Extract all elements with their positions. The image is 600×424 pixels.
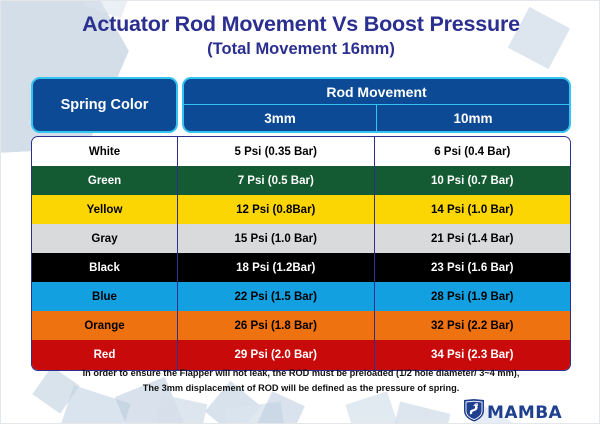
cell-pressure-3mm: 18 Psi (1.2Bar) (177, 253, 374, 282)
cell-spring-color: Orange (32, 311, 177, 340)
table-row: White5 Psi (0.35 Bar)6 Psi (0.4 Bar) (32, 137, 570, 166)
cell-pressure-10mm: 6 Psi (0.4 Bar) (374, 137, 571, 166)
note-line-1: In order to ensure the Flapper will not … (1, 366, 600, 381)
square-decoration-bottom (153, 395, 208, 424)
table-row: Yellow12 Psi (0.8Bar)14 Psi (1.0 Bar) (32, 195, 570, 224)
cell-pressure-3mm: 22 Psi (1.5 Bar) (177, 282, 374, 311)
logo-text: MAMBA (487, 403, 562, 423)
cell-pressure-10mm: 32 Psi (2.2 Bar) (374, 311, 571, 340)
cell-pressure-10mm: 28 Psi (1.9 Bar) (374, 282, 571, 311)
cell-spring-color: Green (32, 166, 177, 195)
cell-pressure-3mm: 12 Psi (0.8Bar) (177, 195, 374, 224)
table-body: White5 Psi (0.35 Bar)6 Psi (0.4 Bar)Gree… (31, 136, 571, 371)
header-rod-movement: Rod Movement (184, 79, 569, 105)
pressure-table: Spring Color Rod Movement 3mm 10mm White… (31, 77, 571, 371)
table-row: Gray15 Psi (1.0 Bar)21 Psi (1.4 Bar) (32, 224, 570, 253)
header-sub-10mm: 10mm (376, 105, 569, 131)
mamba-logo: MAMBA (463, 398, 562, 424)
cell-pressure-10mm: 23 Psi (1.6 Bar) (374, 253, 571, 282)
shield-snake-icon (463, 398, 485, 424)
page-title: Actuator Rod Movement Vs Boost Pressure … (1, 13, 600, 58)
table-row: Green7 Psi (0.5 Bar)10 Psi (0.7 Bar) (32, 166, 570, 195)
note-line-2: The 3mm displacement of ROD will be defi… (1, 381, 600, 396)
cell-spring-color: Gray (32, 224, 177, 253)
footer-note: In order to ensure the Flapper will not … (1, 366, 600, 396)
cell-pressure-3mm: 7 Psi (0.5 Bar) (177, 166, 374, 195)
infographic-page: Actuator Rod Movement Vs Boost Pressure … (0, 0, 600, 424)
cell-spring-color: White (32, 137, 177, 166)
cell-pressure-10mm: 21 Psi (1.4 Bar) (374, 224, 571, 253)
cell-pressure-10mm: 10 Psi (0.7 Bar) (374, 166, 571, 195)
cell-pressure-3mm: 5 Psi (0.35 Bar) (177, 137, 374, 166)
square-decoration-bottom (387, 401, 450, 424)
title-main-text: Actuator Rod Movement Vs Boost Pressure (1, 13, 600, 36)
cell-pressure-3mm: 15 Psi (1.0 Bar) (177, 224, 374, 253)
table-row: Blue22 Psi (1.5 Bar)28 Psi (1.9 Bar) (32, 282, 570, 311)
cell-spring-color: Yellow (32, 195, 177, 224)
header-sub-columns: 3mm 10mm (184, 105, 569, 131)
header-sub-3mm: 3mm (184, 105, 376, 131)
header-spring-color: Spring Color (31, 77, 178, 133)
square-decoration-bottom (225, 401, 288, 424)
cell-spring-color: Black (32, 253, 177, 282)
title-sub-text: (Total Movement 16mm) (1, 41, 600, 58)
table-row: Black18 Psi (1.2Bar)23 Psi (1.6 Bar) (32, 253, 570, 282)
cell-pressure-3mm: 26 Psi (1.8 Bar) (177, 311, 374, 340)
cell-pressure-10mm: 14 Psi (1.0 Bar) (374, 195, 571, 224)
header-rod-movement-group: Rod Movement 3mm 10mm (182, 77, 571, 133)
table-header: Spring Color Rod Movement 3mm 10mm (31, 77, 571, 133)
cell-spring-color: Blue (32, 282, 177, 311)
table-row: Orange26 Psi (1.8 Bar)32 Psi (2.2 Bar) (32, 311, 570, 340)
